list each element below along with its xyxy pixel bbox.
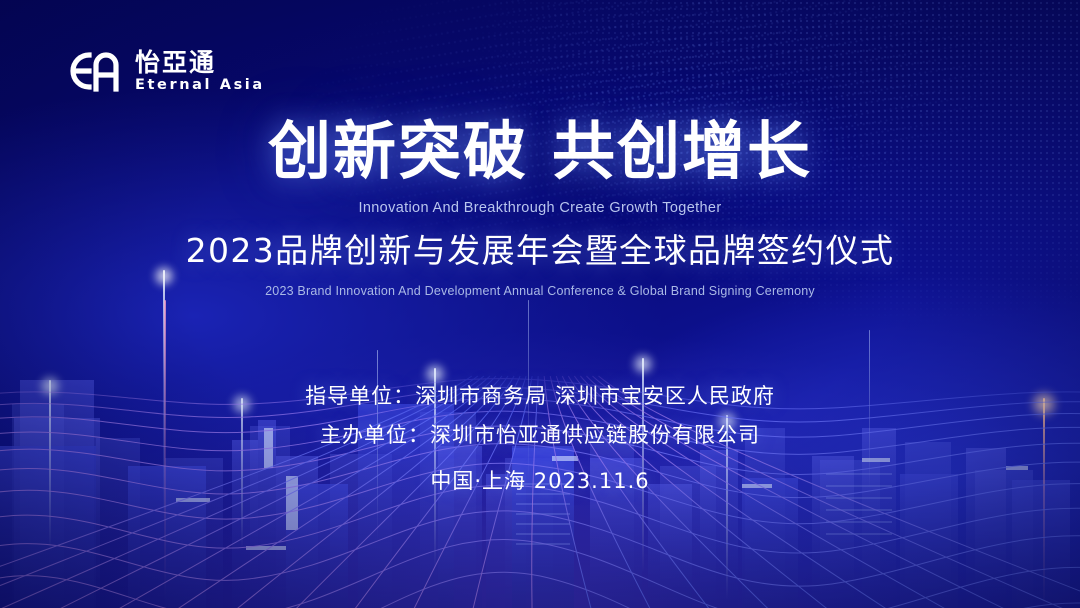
page-title: 创新突破 共创增长 <box>0 118 1080 186</box>
credits-block: 指导单位：深圳市商务局 深圳市宝安区人民政府 主办单位：深圳市怡亚通供应链股份有… <box>0 386 1080 495</box>
event-subtitle-english: 2023 Brand Innovation And Development An… <box>0 284 1080 298</box>
hero-text-block: 创新突破 共创增长 Innovation And Breakthrough Cr… <box>0 118 1080 298</box>
guidance-units: 指导单位：深圳市商务局 深圳市宝安区人民政府 <box>0 386 1080 407</box>
brand-logo: 怡亞通 Eternal Asia <box>62 48 265 94</box>
event-subtitle: 2023品牌创新与发展年会暨全球品牌签约仪式 <box>0 232 1080 271</box>
brand-name-en: Eternal Asia <box>135 78 265 93</box>
brand-wordmark: 怡亞通 Eternal Asia <box>135 50 265 93</box>
page-title-english: Innovation And Breakthrough Create Growt… <box>0 200 1080 216</box>
organizer-unit: 主办单位：深圳市怡亚通供应链股份有限公司 <box>0 425 1080 446</box>
place-and-date: 中国·上海 2023.11.6 <box>0 465 1080 495</box>
ea-monogram-icon <box>62 48 124 94</box>
conference-backdrop: 怡亞通 Eternal Asia 创新突破 共创增长 Innovation An… <box>0 0 1080 608</box>
brand-name-cn: 怡亞通 <box>135 50 265 75</box>
